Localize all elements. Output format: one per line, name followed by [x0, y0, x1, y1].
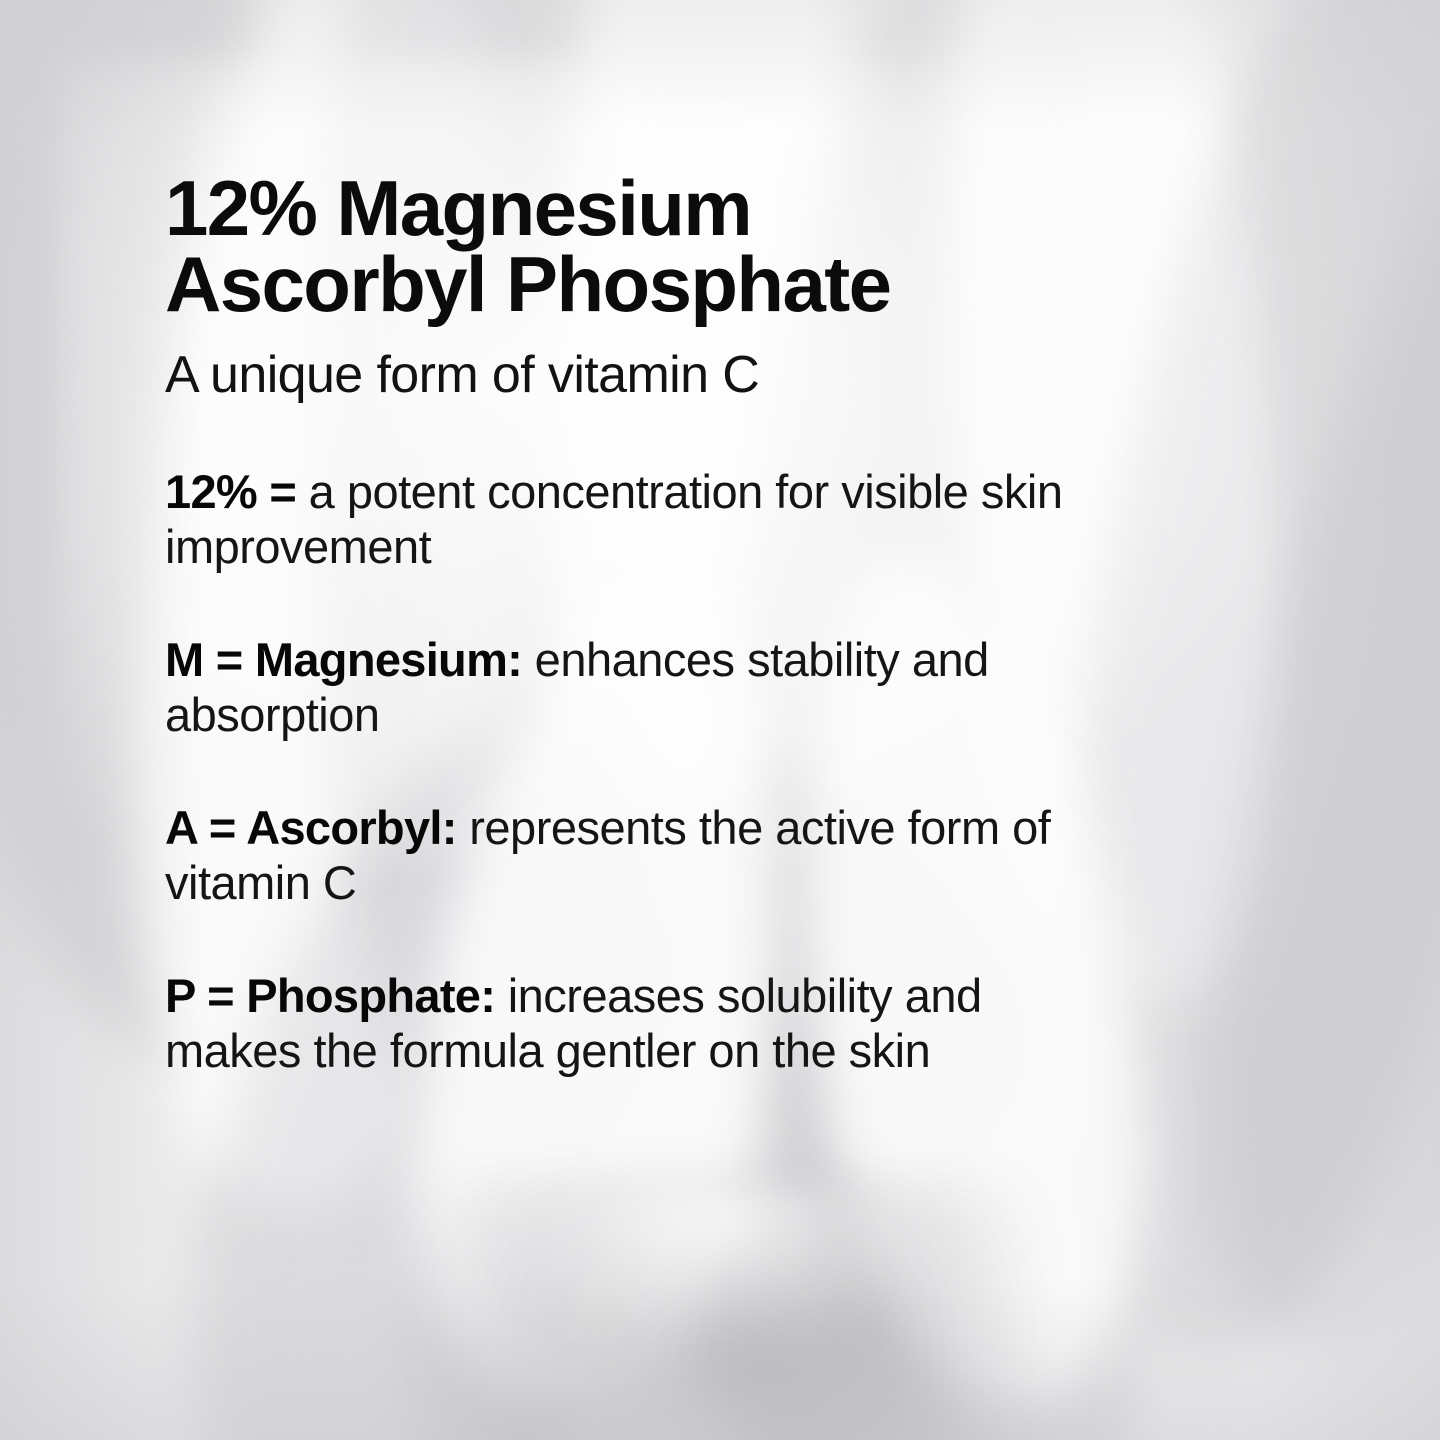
headline-line-2: Ascorbyl Phosphate — [165, 240, 890, 328]
benefit-label-concentration: 12% = — [165, 465, 296, 518]
text-content: 12% Magnesium Ascorbyl Phosphate A uniqu… — [165, 0, 1175, 1440]
benefit-item-concentration: 12% = a potent concentration for visible… — [165, 465, 1130, 575]
benefit-list: 12% = a potent concentration for visible… — [165, 465, 1175, 1079]
subtitle: A unique form of vitamin C — [165, 347, 1175, 403]
benefit-item-ascorbyl: A = Ascorbyl: represents the active form… — [165, 801, 1130, 911]
ingredient-info-card: 12% Magnesium Ascorbyl Phosphate A uniqu… — [0, 0, 1440, 1440]
headline-line-1: 12% Magnesium — [165, 164, 751, 252]
benefit-label-phosphate: P = Phosphate: — [165, 969, 495, 1022]
benefit-item-magnesium: M = Magnesium: enhances stability and ab… — [165, 633, 1130, 743]
benefit-item-phosphate: P = Phosphate: increases solubility and … — [165, 969, 1130, 1079]
page-title: 12% Magnesium Ascorbyl Phosphate — [165, 170, 1065, 323]
benefit-body-concentration: a potent concentration for visible skin … — [165, 465, 1062, 573]
benefit-label-ascorbyl: A = Ascorbyl: — [165, 801, 457, 854]
benefit-label-magnesium: M = Magnesium: — [165, 633, 522, 686]
